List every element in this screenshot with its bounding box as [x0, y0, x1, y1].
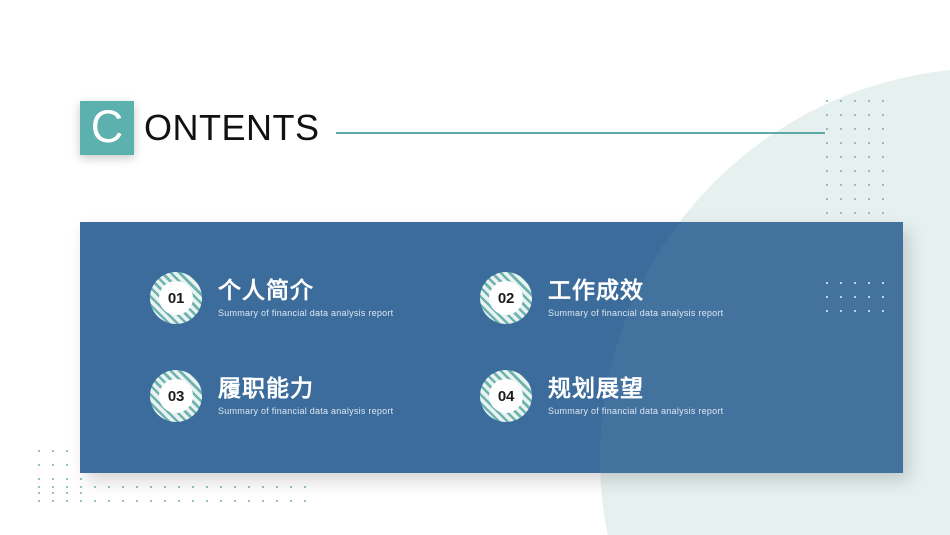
item-subtitle: Summary of financial data analysis repor… — [548, 308, 723, 319]
number-badge-icon: 01 — [150, 272, 202, 324]
number-badge-icon: 04 — [480, 370, 532, 422]
contents-item-list: 01 个人简介 Summary of financial data analys… — [80, 222, 903, 473]
badge-number: 02 — [489, 281, 523, 315]
contents-slide: C ONTENTS 01 个人简介 Summary of financial d… — [0, 0, 950, 535]
item-subtitle: Summary of financial data analysis repor… — [218, 308, 393, 319]
list-item[interactable]: 01 个人简介 Summary of financial data analys… — [150, 272, 393, 324]
badge-number: 03 — [159, 379, 193, 413]
title-text: ONTENTS — [144, 110, 320, 146]
contents-panel: 01 个人简介 Summary of financial data analys… — [80, 222, 903, 473]
item-text-block: 个人简介 Summary of financial data analysis … — [218, 278, 393, 319]
dot-grid-bottom-wide — [30, 478, 308, 514]
badge-number: 04 — [489, 379, 523, 413]
dot-grid-over-panel — [818, 274, 896, 320]
item-text-block: 规划展望 Summary of financial data analysis … — [548, 376, 723, 417]
item-subtitle: Summary of financial data analysis repor… — [548, 406, 723, 417]
badge-number: 01 — [159, 281, 193, 315]
item-text-block: 履职能力 Summary of financial data analysis … — [218, 376, 393, 417]
page-title: C ONTENTS — [80, 97, 320, 159]
list-item[interactable]: 02 工作成效 Summary of financial data analys… — [480, 272, 723, 324]
number-badge-icon: 02 — [480, 272, 532, 324]
item-title: 个人简介 — [218, 278, 393, 303]
item-title: 工作成效 — [548, 278, 723, 303]
title-initial-badge: C — [80, 101, 134, 155]
item-subtitle: Summary of financial data analysis repor… — [218, 406, 393, 417]
item-text-block: 工作成效 Summary of financial data analysis … — [548, 278, 723, 319]
number-badge-icon: 03 — [150, 370, 202, 422]
item-title: 履职能力 — [218, 376, 393, 401]
title-divider-line — [336, 132, 825, 134]
item-title: 规划展望 — [548, 376, 723, 401]
list-item[interactable]: 03 履职能力 Summary of financial data analys… — [150, 370, 393, 422]
list-item[interactable]: 04 规划展望 Summary of financial data analys… — [480, 370, 723, 422]
title-initial-letter: C — [91, 104, 124, 149]
